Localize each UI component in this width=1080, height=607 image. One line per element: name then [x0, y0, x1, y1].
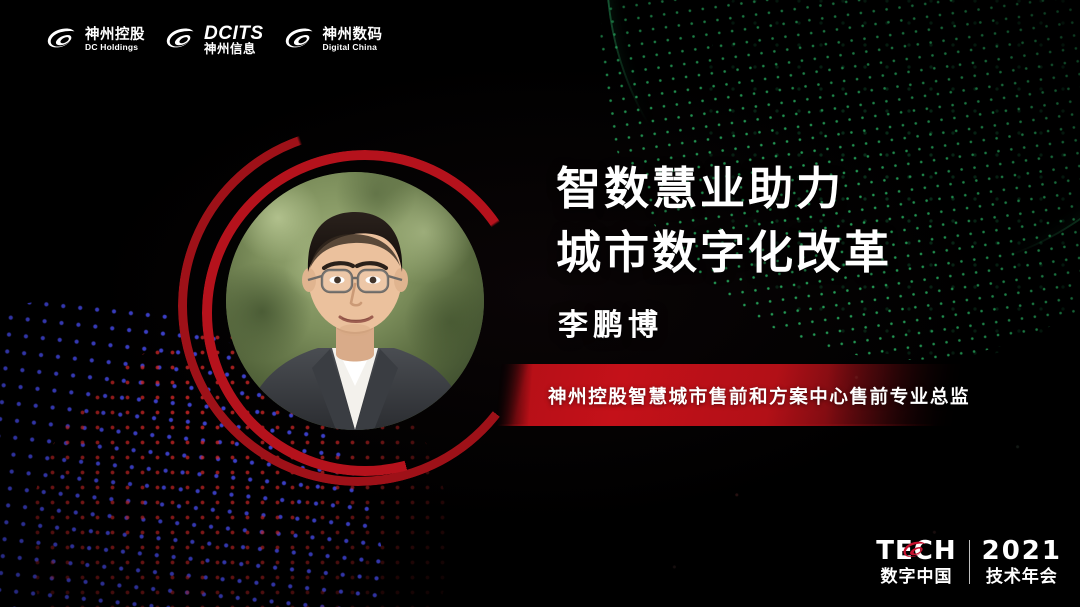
event-tech-wordmark: TECH — [876, 538, 956, 564]
logo-dc-holdings-cn: 神州控股 — [85, 28, 145, 43]
logo-digital-china-text: 神州数码 Digital China — [323, 28, 383, 52]
portrait-illustration — [226, 172, 484, 430]
speaker-name: 李鹏博 — [558, 300, 663, 344]
logo-dc-holdings-text: 神州控股 DC Holdings — [85, 28, 145, 52]
speaker-photo — [226, 172, 484, 430]
logo-digital-china: 神州数码 Digital China — [284, 27, 383, 53]
dc-swoosh-icon — [46, 27, 78, 53]
event-year: 2021 — [982, 538, 1062, 564]
logo-dcits-wordmark: DCITS — [204, 24, 264, 43]
speaker-portrait-group — [170, 118, 540, 488]
event-logo: TECH 数字中国 2021 技术年会 — [876, 538, 1062, 585]
red-swoosh-icon — [902, 539, 928, 563]
dc-swoosh-icon — [284, 27, 316, 53]
event-logo-right: 2021 技术年会 — [982, 538, 1062, 585]
speaker-role-text: 神州控股智慧城市售前和方案中心售前专业总监 — [548, 383, 970, 409]
event-tech-cn: 数字中国 — [880, 568, 952, 585]
logo-digital-china-en: Digital China — [323, 43, 383, 52]
presentation-slide: 神州控股 DC Holdings DCITS 神州信息 神州数码 Digital… — [0, 0, 1080, 607]
event-logo-left: TECH 数字中国 — [876, 538, 956, 585]
sponsor-logo-bar: 神州控股 DC Holdings DCITS 神州信息 神州数码 Digital… — [46, 24, 383, 56]
event-year-cn: 技术年会 — [986, 568, 1058, 585]
logo-dcits-text: DCITS 神州信息 — [204, 24, 264, 56]
logo-dc-holdings-en: DC Holdings — [85, 43, 145, 52]
logo-dcits-cn: 神州信息 — [204, 43, 264, 56]
event-logo-divider — [969, 540, 970, 584]
presentation-title: 智数慧业助力 城市数字化改革 — [556, 158, 892, 286]
logo-dc-holdings: 神州控股 DC Holdings — [46, 27, 145, 53]
logo-dcits: DCITS 神州信息 — [165, 24, 264, 56]
logo-digital-china-cn: 神州数码 — [323, 28, 383, 43]
dc-swoosh-icon — [165, 27, 197, 53]
